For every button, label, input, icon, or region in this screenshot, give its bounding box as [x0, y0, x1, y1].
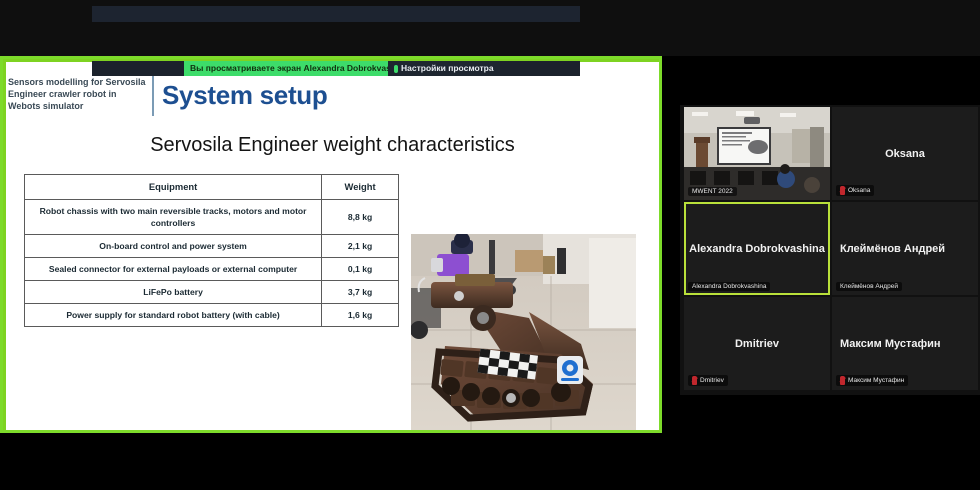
- participant-name: Alexandra Dobrokvashina: [692, 283, 766, 290]
- participant-name: Dmitriev: [700, 377, 724, 384]
- mic-muted-icon: [840, 376, 845, 385]
- meeting-top-bar-inner: [92, 6, 580, 22]
- table-header-equipment: Equipment: [25, 175, 322, 200]
- table-row: Robot chassis with two main reversible t…: [25, 200, 399, 235]
- participant-display-name: Максим Мустафин: [840, 338, 941, 350]
- screen-share-notification-text: Вы просматриваете экран Alexandra Dobrok…: [190, 61, 408, 76]
- weight-characteristics-table: Equipment Weight Robot chassis with two …: [24, 174, 399, 327]
- zoom-meeting-window: Sensors modelling for Servosila Engineer…: [0, 0, 980, 490]
- deck-subtitle: Sensors modelling for Servosila Engineer…: [8, 76, 148, 112]
- participant-name: Клеймёнов Андрей: [840, 283, 898, 290]
- participant-display-name: Dmitriev: [684, 338, 830, 350]
- view-options-label: Настройки просмотра: [401, 61, 494, 76]
- cell-weight: 3,7 kg: [322, 281, 399, 304]
- presentation-slide: Sensors modelling for Servosila Engineer…: [6, 62, 659, 430]
- participant-tile-dmitriev[interactable]: Dmitriev Dmitriev: [684, 297, 830, 390]
- slide-title: System setup: [162, 80, 327, 111]
- cell-equipment: Robot chassis with two main reversible t…: [25, 200, 322, 235]
- shared-screen-frame: Sensors modelling for Servosila Engineer…: [0, 56, 662, 433]
- cell-weight: 8,8 kg: [322, 200, 399, 235]
- participant-name-badge: Dmitriev: [688, 375, 728, 386]
- mic-muted-icon: [692, 376, 697, 385]
- cell-weight: 1,6 kg: [322, 304, 399, 327]
- table-header-row: Equipment Weight: [25, 175, 399, 200]
- participant-tile-alexandra-dobrokvashina[interactable]: Alexandra Dobrokvashina Alexandra Dobrok…: [684, 202, 830, 295]
- participant-name-badge: Максим Мустафин: [836, 375, 908, 386]
- participant-tile-kleymenov-andrey[interactable]: Клеймёнов Андрей Клеймёнов Андрей: [832, 202, 978, 295]
- participant-name-badge: Oksana: [836, 185, 874, 196]
- cell-equipment: On-board control and power system: [25, 235, 322, 258]
- participant-name-badge: Alexandra Dobrokvashina: [688, 282, 770, 291]
- robot-photo: [411, 234, 636, 430]
- mic-muted-icon: [840, 186, 845, 195]
- participant-gallery: MWENT 2022 Oksana Oksana Alexandra Dobro…: [680, 105, 980, 395]
- participant-name-badge: MWENT 2022: [688, 187, 737, 196]
- table-row: Sealed connector for external payloads o…: [25, 258, 399, 281]
- cell-equipment: Power supply for standard robot battery …: [25, 304, 322, 327]
- participant-name: MWENT 2022: [692, 188, 733, 195]
- participant-display-name: Клеймёнов Андрей: [840, 243, 945, 255]
- participant-tile-oksana[interactable]: Oksana Oksana: [832, 107, 978, 200]
- participant-name-badge: Клеймёнов Андрей: [836, 282, 902, 291]
- cell-equipment: LiFePo battery: [25, 281, 322, 304]
- participant-tile-maksim-mustafin[interactable]: Максим Мустафин Максим Мустафин: [832, 297, 978, 390]
- cell-weight: 2,1 kg: [322, 235, 399, 258]
- participant-display-name: Alexandra Dobrokvashina: [684, 243, 830, 255]
- table-row: LiFePo battery 3,7 kg: [25, 281, 399, 304]
- cell-equipment: Sealed connector for external payloads o…: [25, 258, 322, 281]
- participant-tile-mwent-2022[interactable]: MWENT 2022: [684, 107, 830, 200]
- table-header-weight: Weight: [322, 175, 399, 200]
- meeting-top-bar: [0, 0, 980, 56]
- participant-name: Максим Мустафин: [848, 377, 904, 384]
- table-row: Power supply for standard robot battery …: [25, 304, 399, 327]
- mic-icon: [394, 65, 398, 73]
- cell-weight: 0,1 kg: [322, 258, 399, 281]
- screen-share-notification: Вы просматриваете экран Alexandra Dobrok…: [184, 61, 414, 76]
- participant-display-name: Oksana: [832, 148, 978, 160]
- slide-heading: Servosila Engineer weight characteristic…: [6, 134, 659, 157]
- participant-name: Oksana: [848, 187, 870, 194]
- table-row: On-board control and power system 2,1 kg: [25, 235, 399, 258]
- header-divider: [152, 76, 154, 116]
- view-options-button[interactable]: Настройки просмотра: [388, 61, 500, 76]
